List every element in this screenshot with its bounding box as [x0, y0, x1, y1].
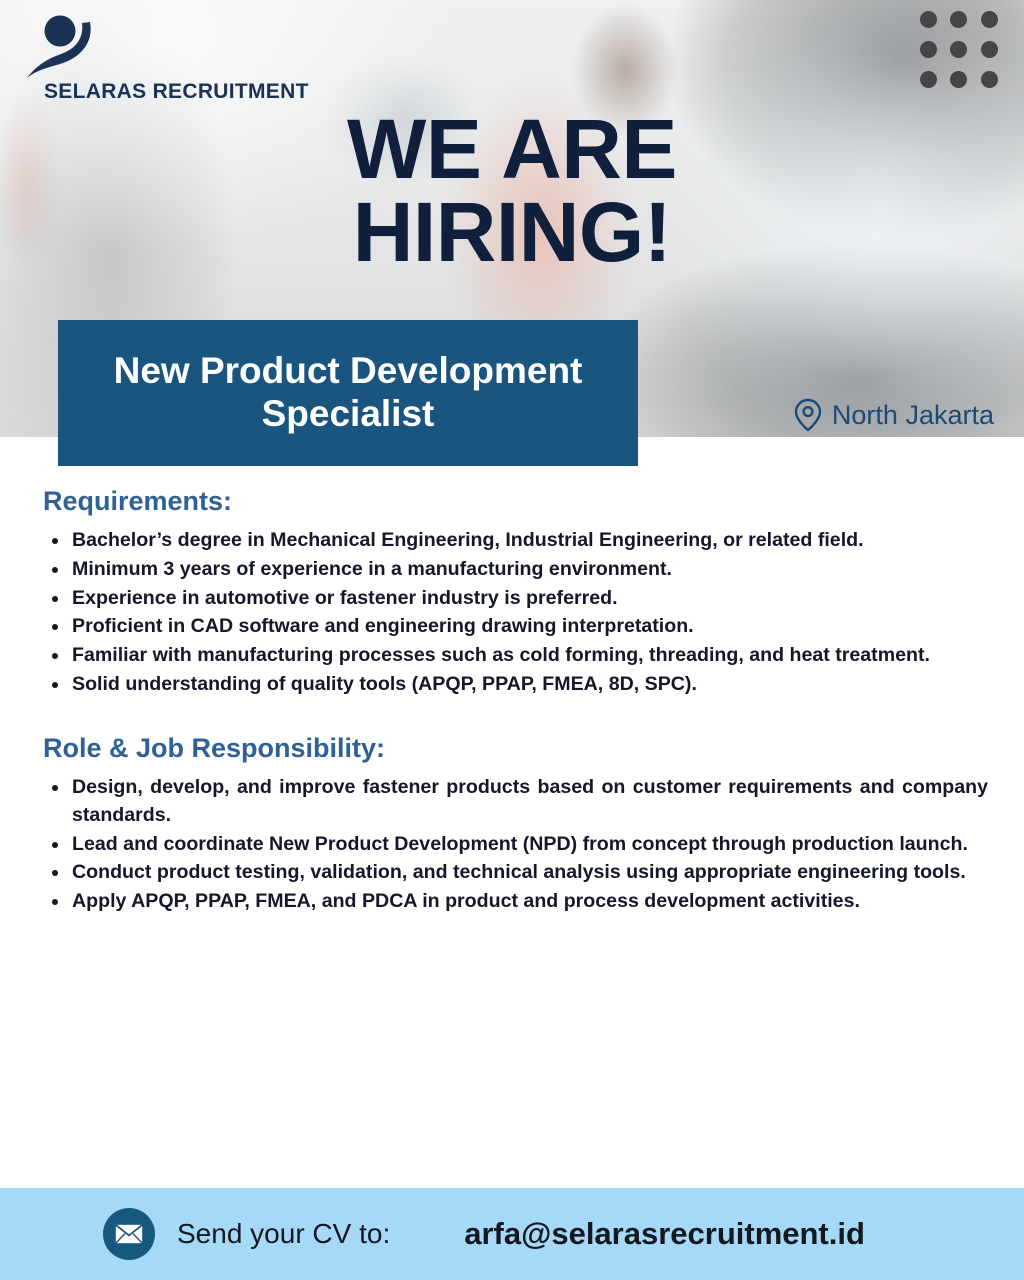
- job-details: Requirements: Bachelor’s degree in Mecha…: [0, 470, 1024, 917]
- headline: WE ARE HIRING!: [0, 108, 1024, 274]
- list-item: Conduct product testing, validation, and…: [40, 859, 988, 887]
- list-item: Bachelor’s degree in Mechanical Engineer…: [40, 527, 988, 555]
- list-item: Familiar with manufacturing processes su…: [40, 642, 988, 670]
- responsibilities-heading: Role & Job Responsibility:: [43, 733, 988, 764]
- footer-email[interactable]: arfa@selarasrecruitment.id: [464, 1216, 865, 1252]
- list-item: Proficient in CAD software and engineeri…: [40, 613, 988, 641]
- list-item: Lead and coordinate New Product Developm…: [40, 831, 988, 859]
- company-logo-text: SELARAS RECRUITMENT: [44, 80, 309, 104]
- dot-grid-decoration: [913, 4, 1005, 94]
- map-pin-icon: [794, 398, 822, 432]
- location: North Jakarta: [794, 398, 994, 432]
- requirements-list: Bachelor’s degree in Mechanical Engineer…: [40, 527, 988, 699]
- footer-contact-bar: Send your CV to: arfa@selarasrecruitment…: [0, 1188, 1024, 1280]
- list-item: Apply APQP, PPAP, FMEA, and PDCA in prod…: [40, 888, 988, 916]
- footer-cta-label: Send your CV to:: [177, 1218, 390, 1250]
- headline-line-1: WE ARE: [347, 102, 677, 196]
- requirements-heading: Requirements:: [43, 486, 988, 517]
- headline-line-2: HIRING!: [0, 191, 1024, 274]
- job-posting-poster: SELARAS RECRUITMENT WE ARE HIRING! New P…: [0, 0, 1024, 1280]
- company-logo: SELARAS RECRUITMENT: [22, 14, 252, 102]
- envelope-icon: [103, 1208, 155, 1260]
- person-swoosh-icon: [22, 14, 108, 84]
- responsibilities-list: Design, develop, and improve fastener pr…: [40, 774, 988, 916]
- list-item: Solid understanding of quality tools (AP…: [40, 671, 988, 699]
- list-item: Design, develop, and improve fastener pr…: [40, 774, 988, 830]
- job-title: New Product Development Specialist: [72, 350, 624, 436]
- list-item: Minimum 3 years of experience in a manuf…: [40, 556, 988, 584]
- envelope-glyph: [114, 1223, 144, 1245]
- location-label: North Jakarta: [832, 400, 994, 431]
- list-item: Experience in automotive or fastener ind…: [40, 585, 988, 613]
- job-title-box: New Product Development Specialist: [58, 320, 638, 466]
